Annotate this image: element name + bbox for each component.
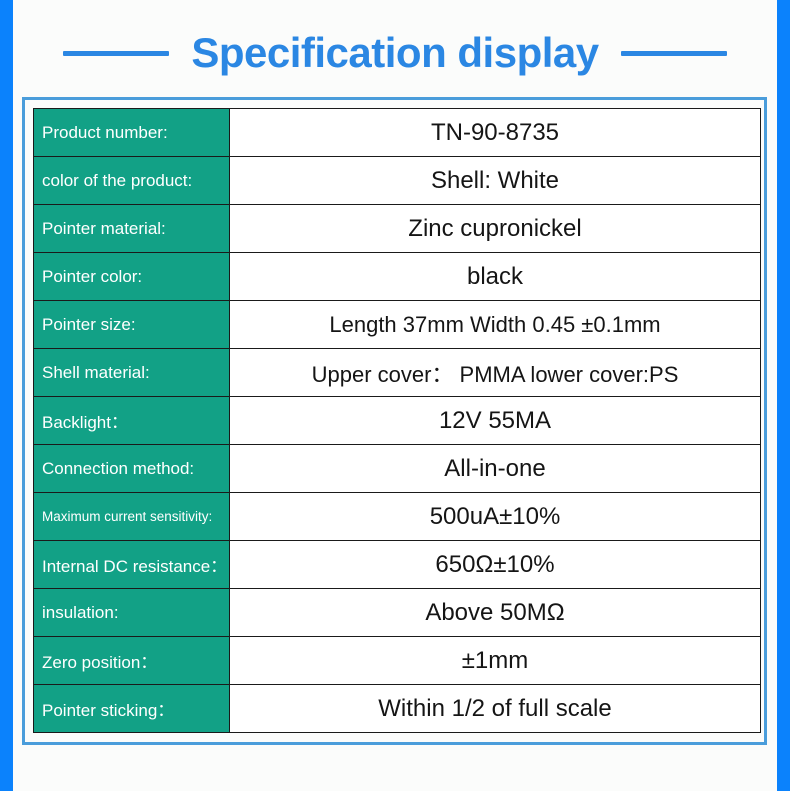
table-row: color of the product: Shell: White <box>34 157 761 205</box>
spec-label: Connection method: <box>34 445 230 493</box>
table-row: Maximum current sensitivity: 500uA±10% <box>34 493 761 541</box>
spec-value: Length 37mm Width 0.45 ±0.1mm <box>230 301 761 349</box>
spec-label: Maximum current sensitivity: <box>34 493 230 541</box>
title-dash-right-icon <box>621 51 727 56</box>
table-row: insulation: Above 50MΩ <box>34 589 761 637</box>
page-title: Specification display <box>191 29 598 77</box>
spec-value: Within 1/2 of full scale <box>230 685 761 733</box>
table-row: Pointer size: Length 37mm Width 0.45 ±0.… <box>34 301 761 349</box>
spec-value: TN-90-8735 <box>230 109 761 157</box>
spec-label: color of the product: <box>34 157 230 205</box>
spec-value: Above 50MΩ <box>230 589 761 637</box>
spec-label: Internal DC resistance： <box>34 541 230 589</box>
right-blue-rail <box>777 0 790 791</box>
spec-label: Pointer sticking： <box>34 685 230 733</box>
spec-table-frame: Product number: TN-90-8735 color of the … <box>22 97 767 745</box>
table-row: Internal DC resistance： 650Ω±10% <box>34 541 761 589</box>
title-dash-left-icon <box>63 51 169 56</box>
specification-table: Product number: TN-90-8735 color of the … <box>33 108 761 733</box>
table-row: Shell material: Upper cover： PMMA lower … <box>34 349 761 397</box>
table-row: Pointer sticking： Within 1/2 of full sca… <box>34 685 761 733</box>
table-row: Product number: TN-90-8735 <box>34 109 761 157</box>
spec-label: Pointer size: <box>34 301 230 349</box>
spec-label: Pointer color: <box>34 253 230 301</box>
spec-label: Product number: <box>34 109 230 157</box>
spec-label: Shell material: <box>34 349 230 397</box>
left-blue-rail <box>0 0 13 791</box>
spec-value: 650Ω±10% <box>230 541 761 589</box>
spec-label: Backlight： <box>34 397 230 445</box>
spec-value: Upper cover： PMMA lower cover:PS <box>230 349 761 397</box>
spec-label: Zero position： <box>34 637 230 685</box>
page-content: Specification display Product number: TN… <box>13 0 777 791</box>
spec-value: ±1mm <box>230 637 761 685</box>
spec-value: 12V 55MA <box>230 397 761 445</box>
spec-label: insulation: <box>34 589 230 637</box>
spec-value: Shell: White <box>230 157 761 205</box>
table-row: Zero position： ±1mm <box>34 637 761 685</box>
spec-value: black <box>230 253 761 301</box>
spec-value: Zinc cupronickel <box>230 205 761 253</box>
spec-value: All-in-one <box>230 445 761 493</box>
spec-label: Pointer material: <box>34 205 230 253</box>
table-row: Pointer material: Zinc cupronickel <box>34 205 761 253</box>
table-row: Backlight： 12V 55MA <box>34 397 761 445</box>
page-header: Specification display <box>13 0 777 100</box>
table-row: Connection method: All-in-one <box>34 445 761 493</box>
table-row: Pointer color: black <box>34 253 761 301</box>
spec-value: 500uA±10% <box>230 493 761 541</box>
